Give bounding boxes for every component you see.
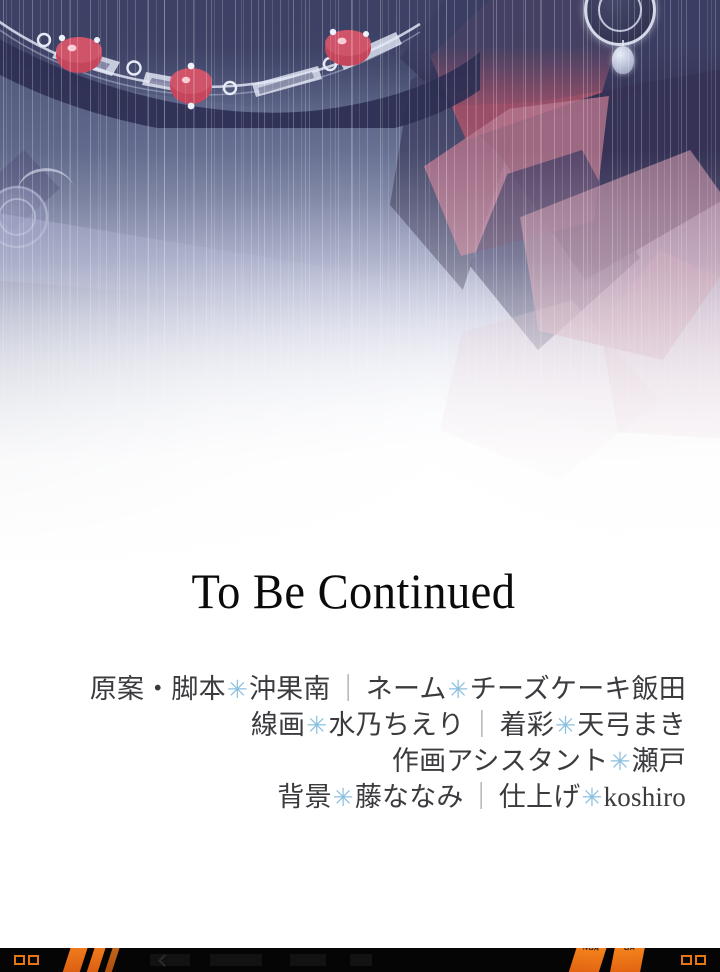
credit-role: ネーム <box>366 674 447 704</box>
credit-line: 原案・脚本✳沖果南｜ネーム✳チーズケーキ飯田 <box>0 672 686 708</box>
credit-name: 水乃ちえり <box>328 710 464 740</box>
banner-tag-1: NGA <box>566 948 608 972</box>
manga-page: To Be Continued 原案・脚本✳沖果南｜ネーム✳チーズケーキ飯田 線… <box>0 0 720 972</box>
credit-line: 作画アシスタント✳瀬戸 <box>0 744 686 780</box>
credit-name: 天弓まき <box>577 710 686 740</box>
asterisk-icon: ✳ <box>447 677 470 704</box>
site-footer-banner[interactable]: NGA GA <box>0 948 720 972</box>
credit-role: 作画アシスタント <box>392 746 609 776</box>
artwork-panel <box>0 0 720 560</box>
credit-role: 原案・脚本 <box>90 674 226 704</box>
to-be-continued-title: To Be Continued <box>25 562 695 620</box>
banner-block-4 <box>350 954 372 966</box>
bracket-icon-right-2 <box>695 955 706 965</box>
asterisk-icon: ✳ <box>608 749 631 776</box>
credit-line: 線画✳水乃ちえり｜着彩✳天弓まき <box>0 708 686 744</box>
bracket-icon-right-1 <box>681 955 692 965</box>
credit-line: 背景✳藤ななみ｜仕上げ✳koshiro <box>0 780 686 816</box>
credit-role: 背景 <box>277 782 331 812</box>
credit-name: 藤ななみ <box>355 782 464 812</box>
orange-stripe-1 <box>60 948 90 972</box>
asterisk-icon: ✳ <box>580 785 603 812</box>
asterisk-icon: ✳ <box>305 713 328 740</box>
page-bottom-spacer <box>0 932 720 948</box>
credit-name: チーズケーキ飯田 <box>470 674 686 704</box>
credit-separator: ｜ <box>464 782 499 812</box>
asterisk-icon: ✳ <box>554 713 577 740</box>
credit-separator: ｜ <box>331 674 366 704</box>
banner-block-2 <box>210 954 262 966</box>
banner-block-3 <box>290 954 326 966</box>
credit-name: 瀬戸 <box>632 746 686 776</box>
credit-name: 沖果南 <box>249 674 331 704</box>
credit-role: 着彩 <box>500 710 554 740</box>
credit-name: koshiro <box>604 782 686 812</box>
bracket-icon-left-1 <box>14 955 25 965</box>
credits-block: 原案・脚本✳沖果南｜ネーム✳チーズケーキ飯田 線画✳水乃ちえり｜着彩✳天弓まき … <box>0 672 720 816</box>
asterisk-icon: ✳ <box>332 785 355 812</box>
asterisk-icon: ✳ <box>226 677 249 704</box>
orange-stripe-2 <box>84 948 108 972</box>
credit-role: 仕上げ <box>499 782 581 812</box>
orange-stripe-3 <box>102 948 122 972</box>
white-fade-overlay <box>0 150 720 560</box>
bracket-icon-left-2 <box>28 955 39 965</box>
credit-separator: ｜ <box>464 710 499 740</box>
banner-tag-2: GA <box>608 948 646 972</box>
credit-role: 線画 <box>251 710 305 740</box>
